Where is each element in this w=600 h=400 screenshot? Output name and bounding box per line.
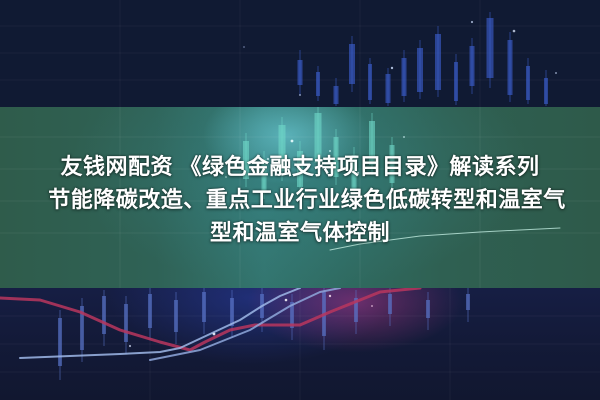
candle-body <box>470 46 475 86</box>
bottom-band-chart <box>0 288 600 400</box>
candle-body <box>368 64 372 100</box>
bottom-chart-band <box>0 288 600 400</box>
candle-body <box>426 300 430 318</box>
bottom-grid <box>0 288 600 400</box>
candle-body <box>386 74 391 103</box>
candle-body <box>334 86 339 104</box>
candle-body <box>349 44 355 84</box>
headline-text: 友钱网配资 《绿色金融支持项目目录》解读系列 节能降碳改造、重点工业行业绿色低碳… <box>0 150 600 249</box>
candle-body <box>202 292 206 322</box>
candle-body <box>487 18 494 78</box>
headline-line-1: 友钱网配资 《绿色金融支持项目目录》解读系列 <box>0 150 600 183</box>
bottom-sparkles <box>129 295 373 347</box>
candle-body <box>58 318 62 366</box>
bottom-candles <box>58 288 470 380</box>
candle-body <box>466 294 470 310</box>
candle-body <box>402 58 407 96</box>
banner-image: 友钱网配资 《绿色金融支持项目目录》解读系列 节能降碳改造、重点工业行业绿色低碳… <box>0 0 600 400</box>
candle-body <box>454 62 458 101</box>
candle-body <box>388 294 392 314</box>
candle-body <box>508 40 513 95</box>
top-chart-band <box>0 0 600 107</box>
candle-body <box>148 294 152 328</box>
candle-body <box>417 48 423 92</box>
candle-body <box>298 60 303 85</box>
candle-body <box>230 298 234 326</box>
headline-line-2: 节能降碳改造、重点工业行业绿色低碳转型和温室气 <box>14 183 600 216</box>
headline-line-3: 型和温室气体控制 <box>0 216 600 249</box>
candle-body <box>544 78 548 104</box>
top-band-chart <box>0 0 600 107</box>
candle-body <box>316 72 320 96</box>
candle-body <box>526 66 530 100</box>
candle-body <box>435 34 441 90</box>
candle-body <box>124 304 128 342</box>
candle-body <box>102 296 106 334</box>
candle-body <box>174 300 178 332</box>
